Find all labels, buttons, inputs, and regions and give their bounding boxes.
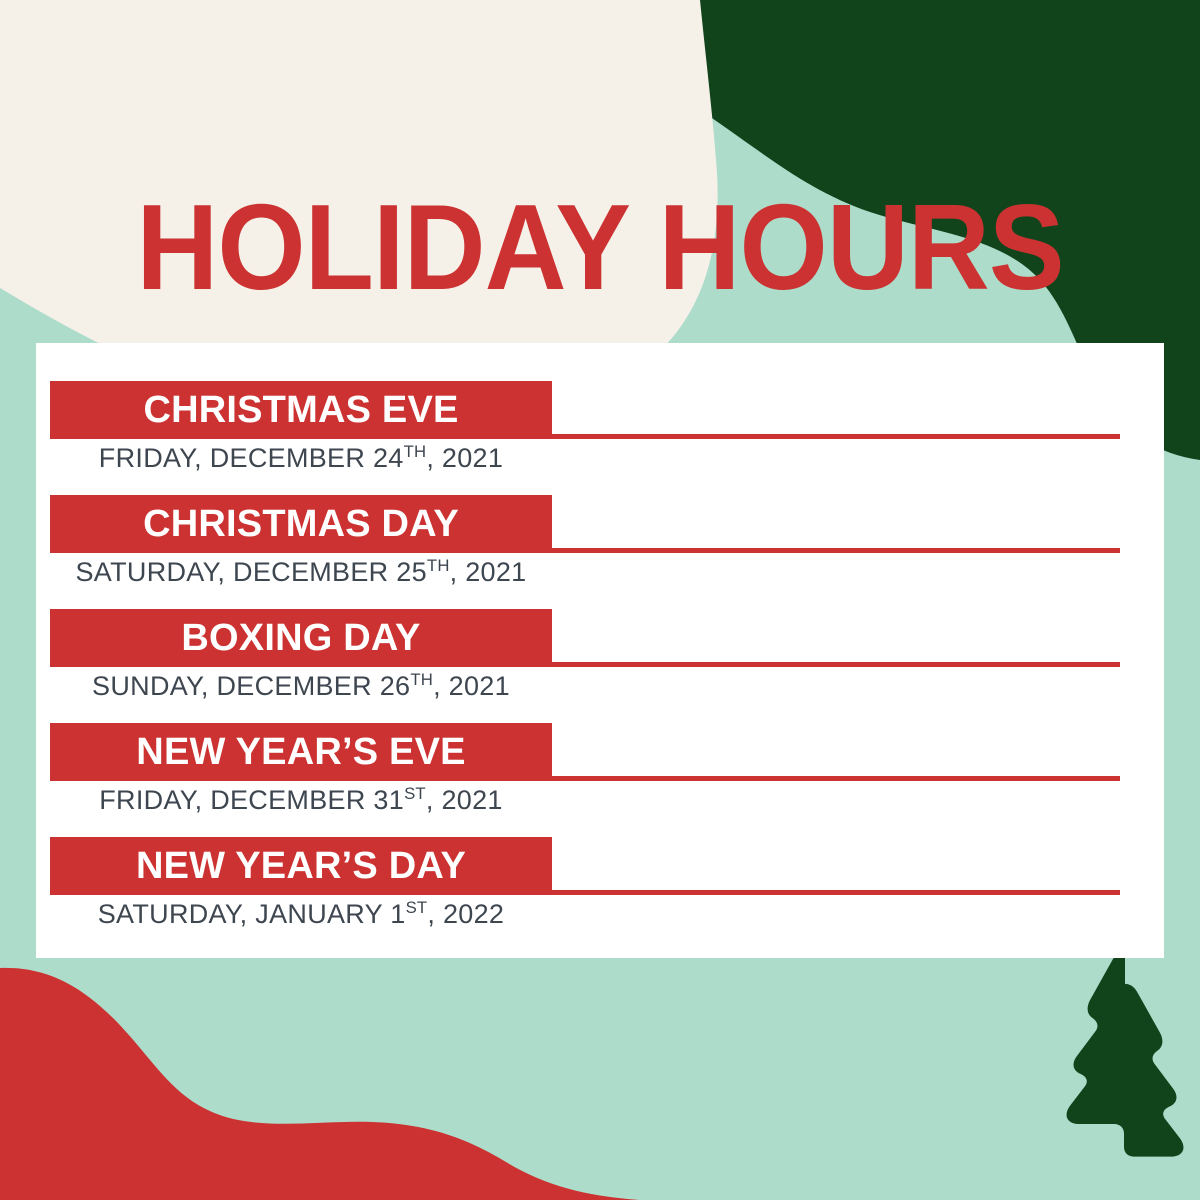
schedule-row: CHRISTMAS DAY SATURDAY, DECEMBER 25TH, 2… <box>36 495 1164 609</box>
schedule-rows: CHRISTMAS EVE FRIDAY, DECEMBER 24TH, 202… <box>36 343 1164 958</box>
schedule-card: CHRISTMAS EVE FRIDAY, DECEMBER 24TH, 202… <box>36 343 1164 958</box>
date-ordinal: TH <box>404 442 427 461</box>
date-suffix: , 2021 <box>426 785 503 815</box>
schedule-row: NEW YEAR’S DAY SATURDAY, JANUARY 1ST, 20… <box>36 837 1164 951</box>
date-ordinal: ST <box>406 898 428 917</box>
holiday-date: SATURDAY, JANUARY 1ST, 2022 <box>50 899 552 930</box>
date-ordinal: ST <box>404 784 426 803</box>
holiday-name: BOXING DAY <box>181 619 420 657</box>
date-prefix: FRIDAY, DECEMBER 24 <box>99 443 404 473</box>
holiday-date: FRIDAY, DECEMBER 31ST, 2021 <box>50 785 552 816</box>
holiday-banner: CHRISTMAS DAY <box>50 495 552 553</box>
date-suffix: , 2021 <box>433 671 510 701</box>
hours-entry-line[interactable] <box>552 662 1120 667</box>
schedule-row: BOXING DAY SUNDAY, DECEMBER 26TH, 2021 <box>36 609 1164 723</box>
holiday-name: CHRISTMAS DAY <box>143 505 459 543</box>
date-ordinal: TH <box>410 670 433 689</box>
hours-entry-line[interactable] <box>552 548 1120 553</box>
holiday-name: CHRISTMAS EVE <box>143 391 458 429</box>
holiday-date: FRIDAY, DECEMBER 24TH, 2021 <box>50 443 552 474</box>
holiday-banner: NEW YEAR’S EVE <box>50 723 552 781</box>
date-prefix: FRIDAY, DECEMBER 31 <box>99 785 404 815</box>
holiday-name: NEW YEAR’S EVE <box>136 733 465 771</box>
holiday-banner: BOXING DAY <box>50 609 552 667</box>
hours-entry-line[interactable] <box>552 434 1120 439</box>
hours-entry-line[interactable] <box>552 776 1120 781</box>
holiday-banner: NEW YEAR’S DAY <box>50 837 552 895</box>
holiday-banner: CHRISTMAS EVE <box>50 381 552 439</box>
schedule-row: CHRISTMAS EVE FRIDAY, DECEMBER 24TH, 202… <box>36 381 1164 495</box>
date-suffix: , 2021 <box>426 443 503 473</box>
holiday-date: SUNDAY, DECEMBER 26TH, 2021 <box>50 671 552 702</box>
poster-canvas: HOLIDAY HOURS CHRISTMAS EVE FRIDAY, DECE… <box>0 0 1200 1200</box>
holiday-date: SATURDAY, DECEMBER 25TH, 2021 <box>50 557 552 588</box>
date-suffix: , 2022 <box>427 899 504 929</box>
date-ordinal: TH <box>427 556 450 575</box>
date-suffix: , 2021 <box>450 557 527 587</box>
date-prefix: SATURDAY, JANUARY 1 <box>98 899 406 929</box>
schedule-row: NEW YEAR’S EVE FRIDAY, DECEMBER 31ST, 20… <box>36 723 1164 837</box>
date-prefix: SUNDAY, DECEMBER 26 <box>92 671 410 701</box>
page-title: HOLIDAY HOURS <box>42 186 1158 308</box>
hours-entry-line[interactable] <box>552 890 1120 895</box>
date-prefix: SATURDAY, DECEMBER 25 <box>76 557 427 587</box>
holiday-name: NEW YEAR’S DAY <box>136 847 466 885</box>
